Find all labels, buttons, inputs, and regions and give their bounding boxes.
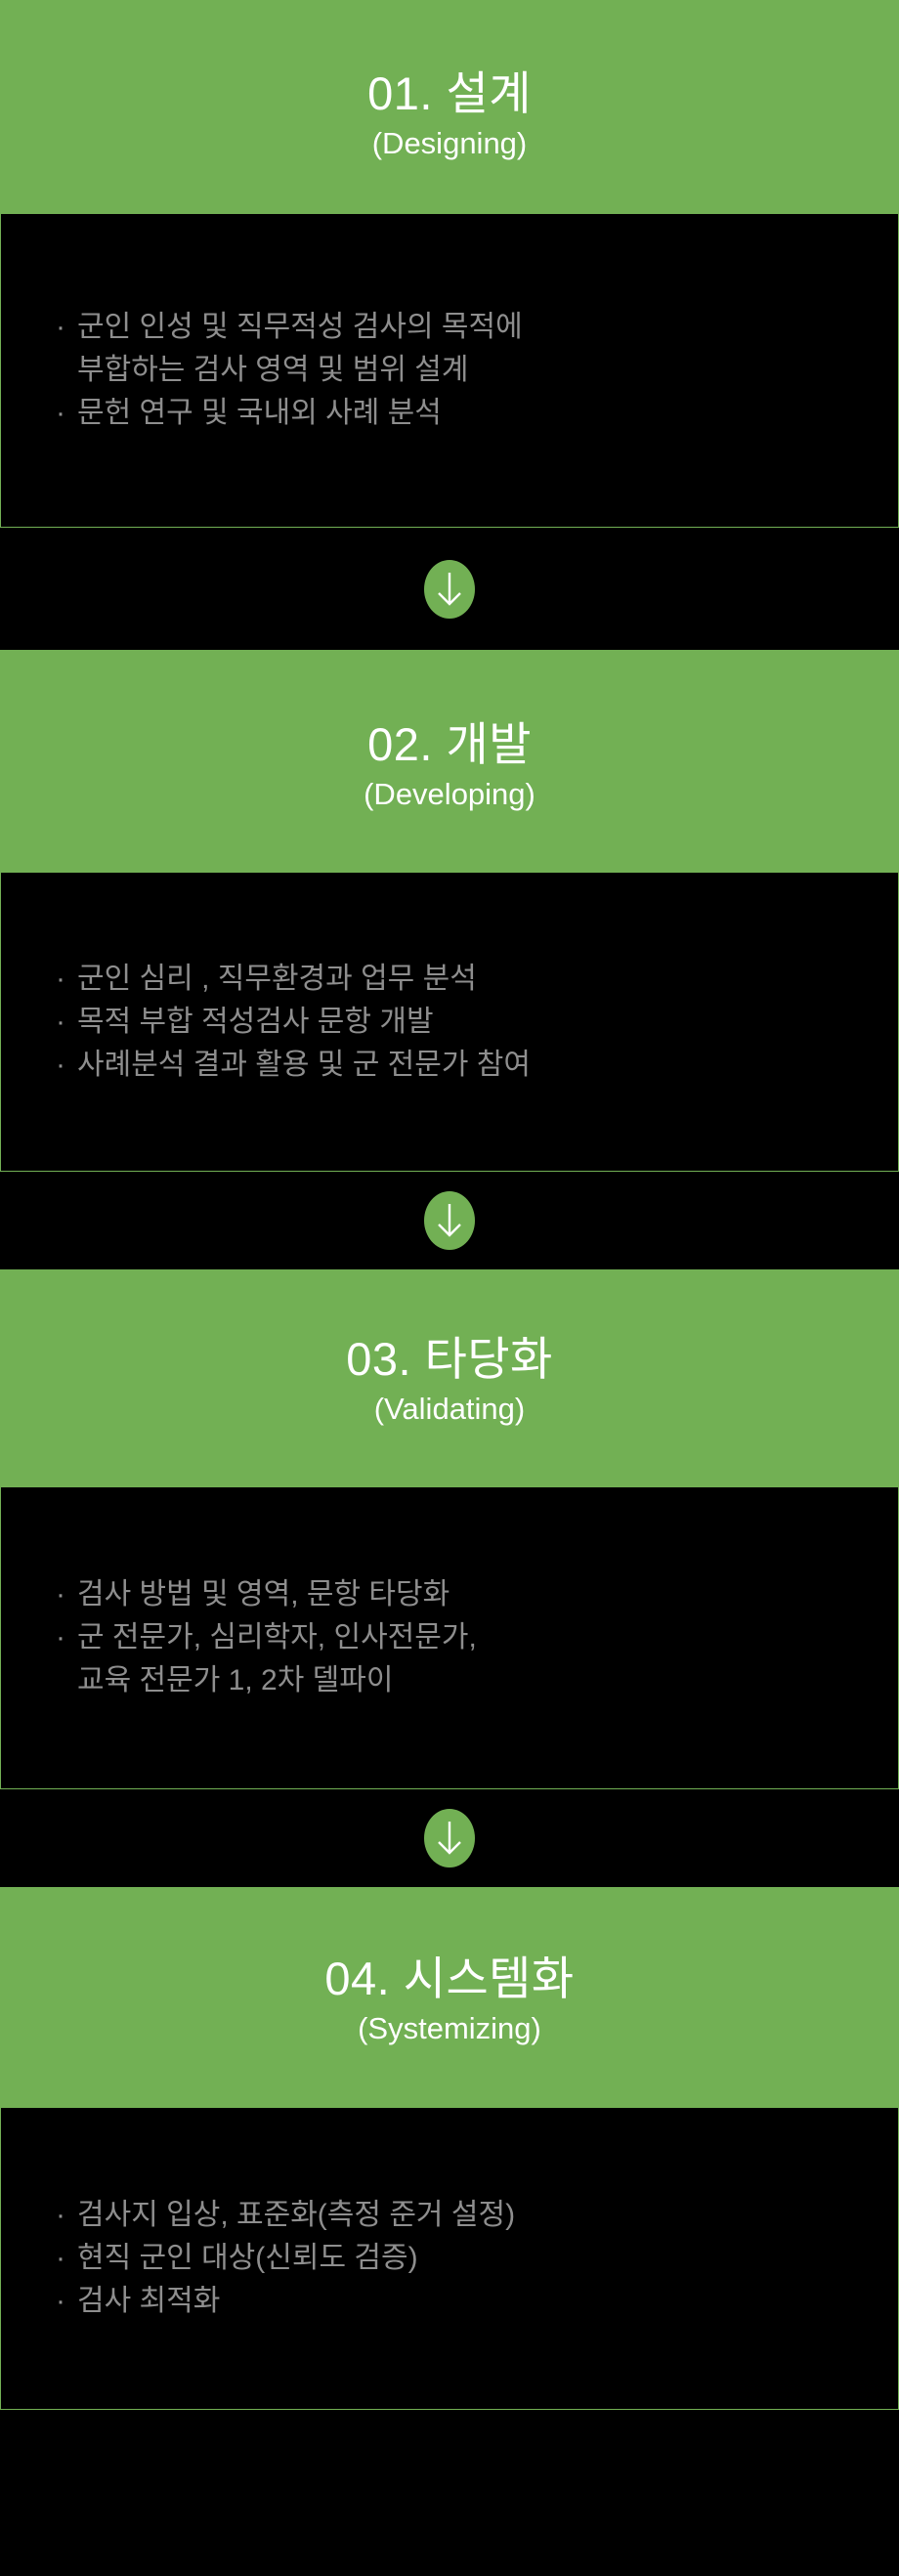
stage-subtitle-02: (Developing): [364, 777, 535, 812]
bullet-dot-icon: ·: [44, 1044, 77, 1087]
bullet-text: 군인 인성 및 직무적성 검사의 목적에 부합하는 검사 영역 및 범위 설계: [77, 306, 873, 392]
bullet-text: 군 전문가, 심리학자, 인사전문가, 교육 전문가 1, 2차 델파이: [77, 1616, 873, 1702]
stage-header-02: 02. 개발 (Developing): [0, 650, 899, 872]
bullet-dot-icon: ·: [44, 2194, 77, 2237]
bullet-text: 문헌 연구 및 국내외 사례 분석: [77, 392, 873, 435]
connector-01-to-02: [0, 528, 899, 650]
down-arrow-icon: [424, 1191, 475, 1250]
bullet-dot-icon: ·: [44, 1001, 77, 1044]
stage-header-03: 03. 타당화 (Validating): [0, 1269, 899, 1486]
list-item: · 군인 심리 , 직무환경과 업무 분석: [44, 958, 873, 1001]
bullet-text: 군인 심리 , 직무환경과 업무 분석: [77, 958, 873, 1001]
bullet-dot-icon: ·: [44, 306, 77, 349]
down-arrow-icon: [424, 1809, 475, 1868]
bullet-text: 검사 최적화: [77, 2280, 873, 2323]
stage-header-01: 01. 설계 (Designing): [0, 0, 899, 213]
down-arrow-icon: [424, 560, 475, 619]
list-item: · 검사지 입상, 표준화(측정 준거 설정): [44, 2194, 873, 2237]
list-item: · 사례분석 결과 활용 및 군 전문가 참여: [44, 1044, 873, 1087]
bullet-dot-icon: ·: [44, 958, 77, 1001]
stage-title-01: 01. 설계: [367, 69, 532, 117]
bullet-text: 현직 군인 대상(신뢰도 검증): [77, 2237, 873, 2280]
stage-body-03: · 검사 방법 및 영역, 문항 타당화 · 군 전문가, 심리학자, 인사전문…: [0, 1486, 899, 1789]
list-item: · 검사 최적화: [44, 2280, 873, 2323]
stage-body-02: · 군인 심리 , 직무환경과 업무 분석 · 목적 부합 적성검사 문항 개발…: [0, 872, 899, 1172]
bullet-text: 검사 방법 및 영역, 문항 타당화: [77, 1573, 873, 1616]
connector-03-to-04: [0, 1789, 899, 1887]
stage-subtitle-03: (Validating): [374, 1392, 526, 1427]
stage-body-04: · 검사지 입상, 표준화(측정 준거 설정) · 현직 군인 대상(신뢰도 검…: [0, 2107, 899, 2410]
list-item: · 문헌 연구 및 국내외 사례 분석: [44, 392, 873, 435]
stage-title-04: 04. 시스템화: [324, 1954, 574, 2002]
bullet-dot-icon: ·: [44, 1573, 77, 1616]
list-item: · 검사 방법 및 영역, 문항 타당화: [44, 1573, 873, 1616]
connector-02-to-03: [0, 1172, 899, 1269]
stage-body-01: · 군인 인성 및 직무적성 검사의 목적에 부합하는 검사 영역 및 범위 설…: [0, 213, 899, 528]
stage-header-04: 04. 시스템화 (Systemizing): [0, 1887, 899, 2107]
list-item: · 목적 부합 적성검사 문항 개발: [44, 1001, 873, 1044]
bullet-text: 검사지 입상, 표준화(측정 준거 설정): [77, 2194, 873, 2237]
bullet-text: 사례분석 결과 활용 및 군 전문가 참여: [77, 1044, 873, 1087]
list-item: · 군인 인성 및 직무적성 검사의 목적에 부합하는 검사 영역 및 범위 설…: [44, 306, 873, 392]
list-item: · 군 전문가, 심리학자, 인사전문가, 교육 전문가 1, 2차 델파이: [44, 1616, 873, 1702]
stage-title-02: 02. 개발: [367, 720, 532, 768]
bullet-dot-icon: ·: [44, 1616, 77, 1659]
stage-title-03: 03. 타당화: [346, 1335, 553, 1383]
bullet-dot-icon: ·: [44, 392, 77, 435]
bullet-dot-icon: ·: [44, 2280, 77, 2323]
stage-subtitle-01: (Designing): [372, 126, 528, 161]
process-flow-infographic: 01. 설계 (Designing) · 군인 인성 및 직무적성 검사의 목적…: [0, 0, 899, 2576]
list-item: · 현직 군인 대상(신뢰도 검증): [44, 2237, 873, 2280]
bullet-text: 목적 부합 적성검사 문항 개발: [77, 1001, 873, 1044]
bullet-dot-icon: ·: [44, 2237, 77, 2280]
stage-subtitle-04: (Systemizing): [358, 2011, 541, 2046]
